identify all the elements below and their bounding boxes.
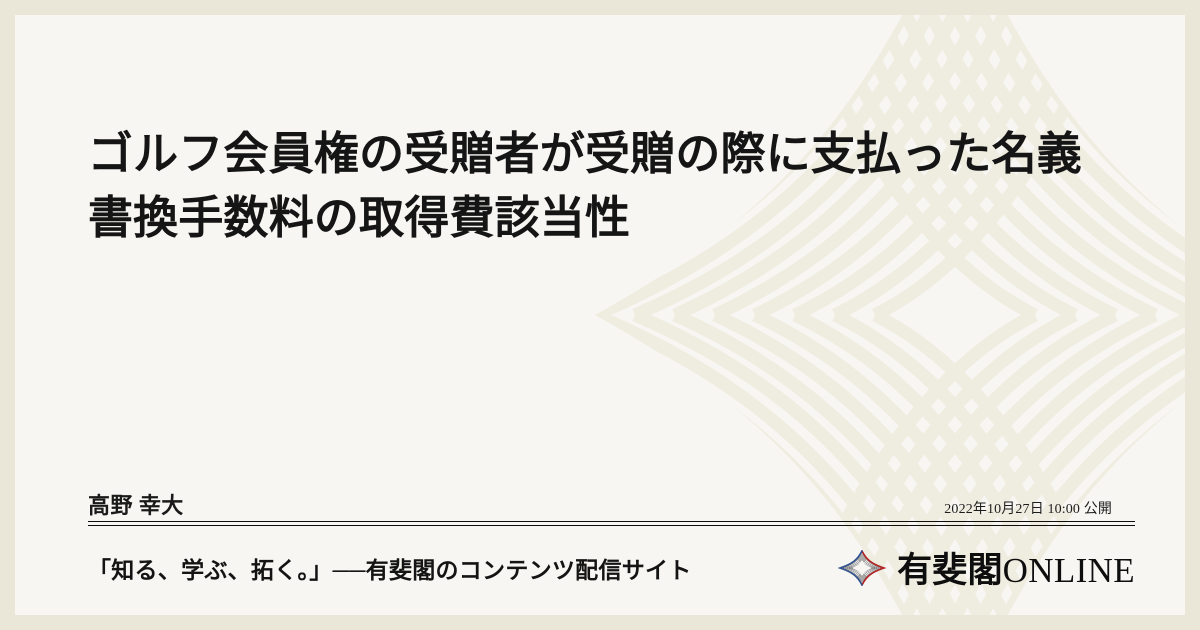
site-tagline: 「知る、学ぶ、拓く。」──有斐閣のコンテンツ配信サイト (88, 551, 692, 585)
published-date: 2022年10月27日 10:00 公開 (944, 498, 1112, 518)
page-title: ゴルフ会員権の受贈者が受贈の際に支払った名義書換手数料の取得費該当性 (88, 15, 1112, 251)
yuhikaku-diamond-logo-icon (838, 549, 886, 587)
footer-row: 「知る、学ぶ、拓く。」──有斐閣のコンテンツ配信サイト (88, 542, 1135, 593)
og-image-card: ゴルフ会員権の受贈者が受贈の際に支払った名義書換手数料の取得費該当性 高野 幸大… (0, 0, 1200, 630)
card-inner-panel: ゴルフ会員権の受贈者が受贈の際に支払った名義書換手数料の取得費該当性 高野 幸大… (15, 15, 1185, 615)
article-meta: 高野 幸大 2022年10月27日 10:00 公開 (88, 488, 1112, 520)
brand-logo: 有斐閣ONLINE (838, 542, 1135, 593)
brand-text-jp: 有斐閣 (897, 542, 1003, 593)
footer-divider (88, 521, 1135, 526)
brand-text: 有斐閣ONLINE (897, 542, 1135, 593)
author-name: 高野 幸大 (88, 488, 184, 520)
card-footer: 「知る、学ぶ、拓く。」──有斐閣のコンテンツ配信サイト (15, 521, 1185, 593)
brand-text-en: ONLINE (1003, 551, 1135, 591)
